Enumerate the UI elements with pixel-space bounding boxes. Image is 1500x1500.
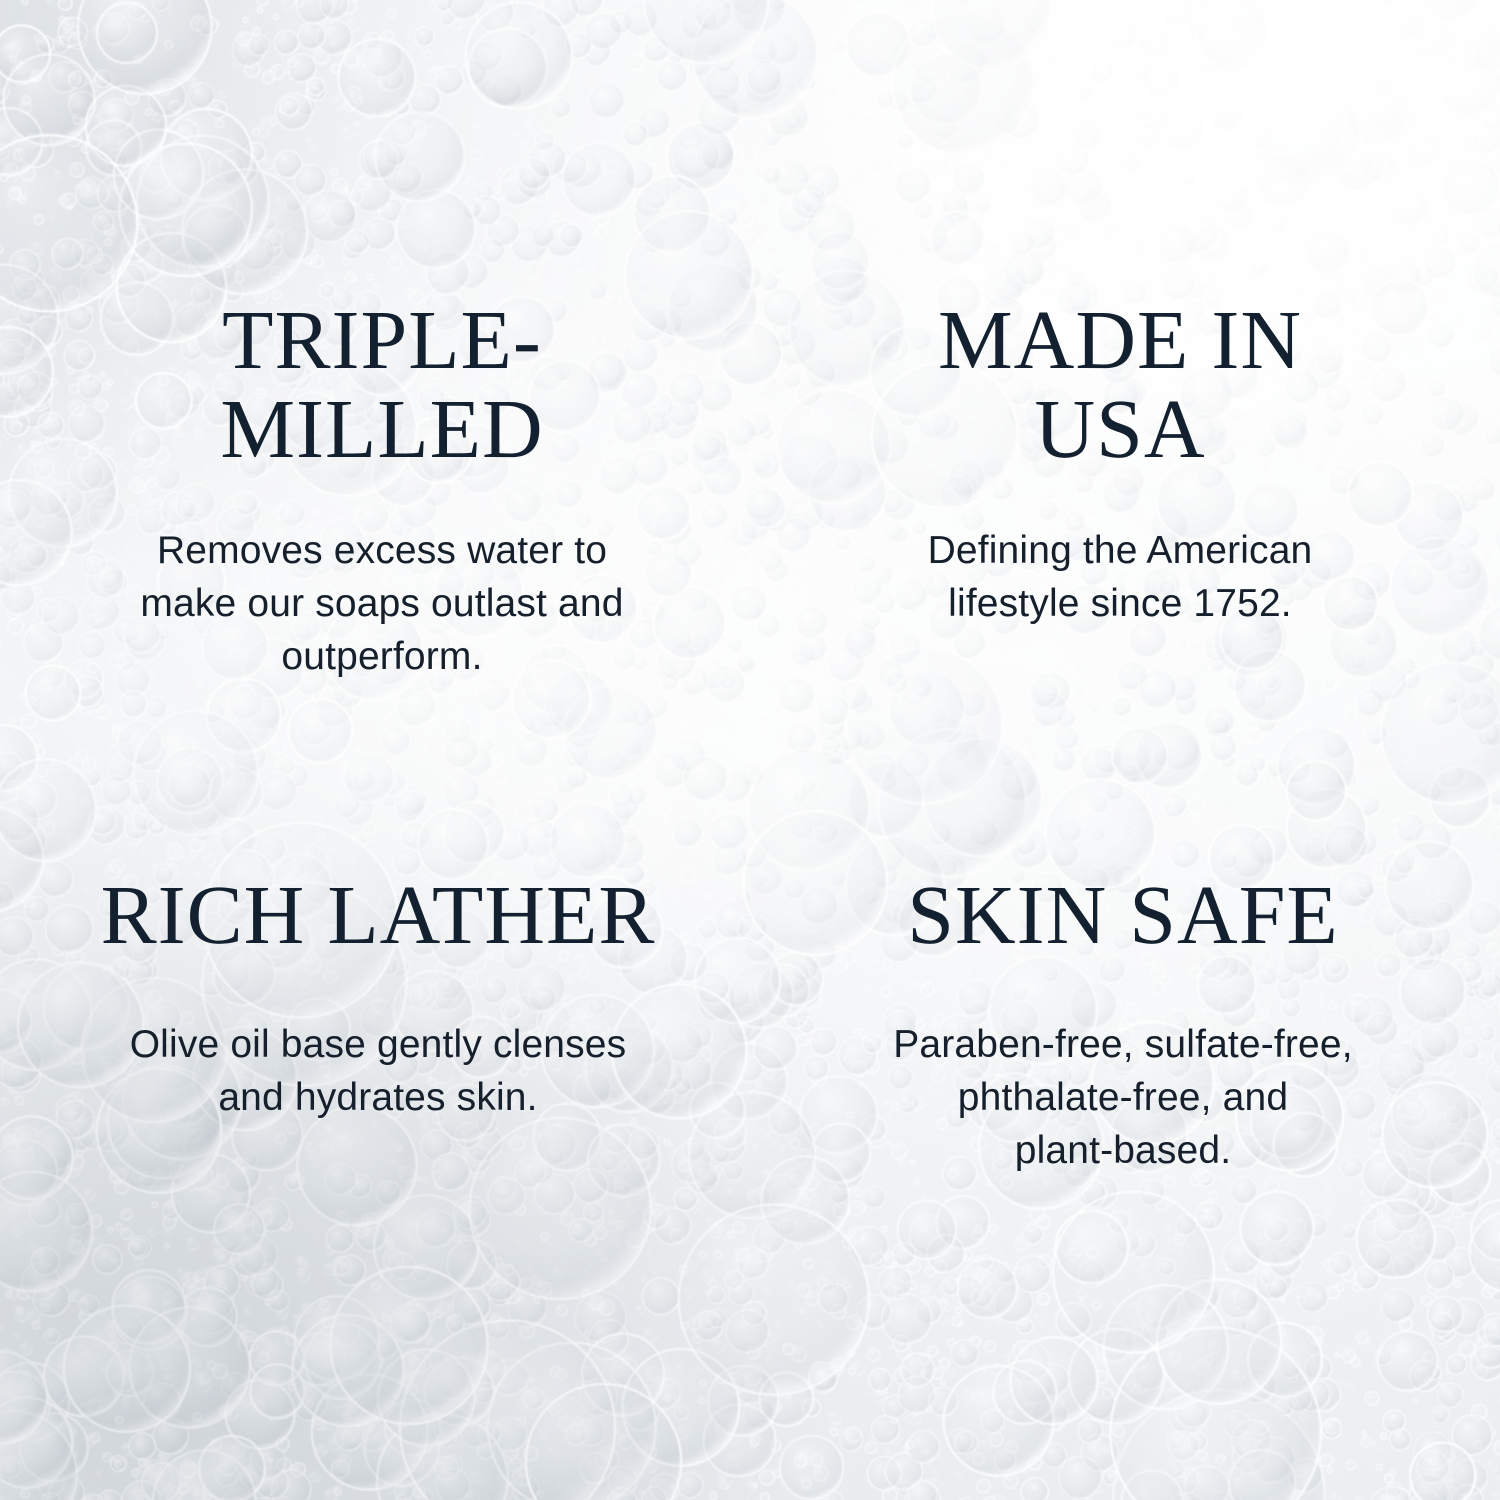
feature-panel: TRIPLE- MILLED Removes excess water to m… (0, 0, 1500, 1500)
feature-heading: SKIN SAFE (907, 876, 1339, 956)
feature-triple-milled: TRIPLE- MILLED Removes excess water to m… (0, 0, 750, 750)
feature-description: Olive oil base gently clenses and hydrat… (130, 1018, 627, 1124)
feature-heading: RICH LATHER (101, 876, 656, 956)
feature-description: Defining the American lifestyle since 17… (928, 524, 1313, 630)
features-grid: TRIPLE- MILLED Removes excess water to m… (0, 0, 1500, 1500)
feature-made-in-usa: MADE IN USA Defining the American lifest… (750, 0, 1500, 750)
feature-skin-safe: SKIN SAFE Paraben-free, sulfate-free, ph… (750, 750, 1500, 1500)
feature-rich-lather: RICH LATHER Olive oil base gently clense… (0, 750, 750, 1500)
feature-heading: MADE IN USA (938, 296, 1302, 474)
feature-description: Paraben-free, sulfate-free, phthalate-fr… (893, 1018, 1352, 1177)
feature-description: Removes excess water to make our soaps o… (140, 524, 623, 683)
feature-heading: TRIPLE- MILLED (220, 296, 543, 474)
